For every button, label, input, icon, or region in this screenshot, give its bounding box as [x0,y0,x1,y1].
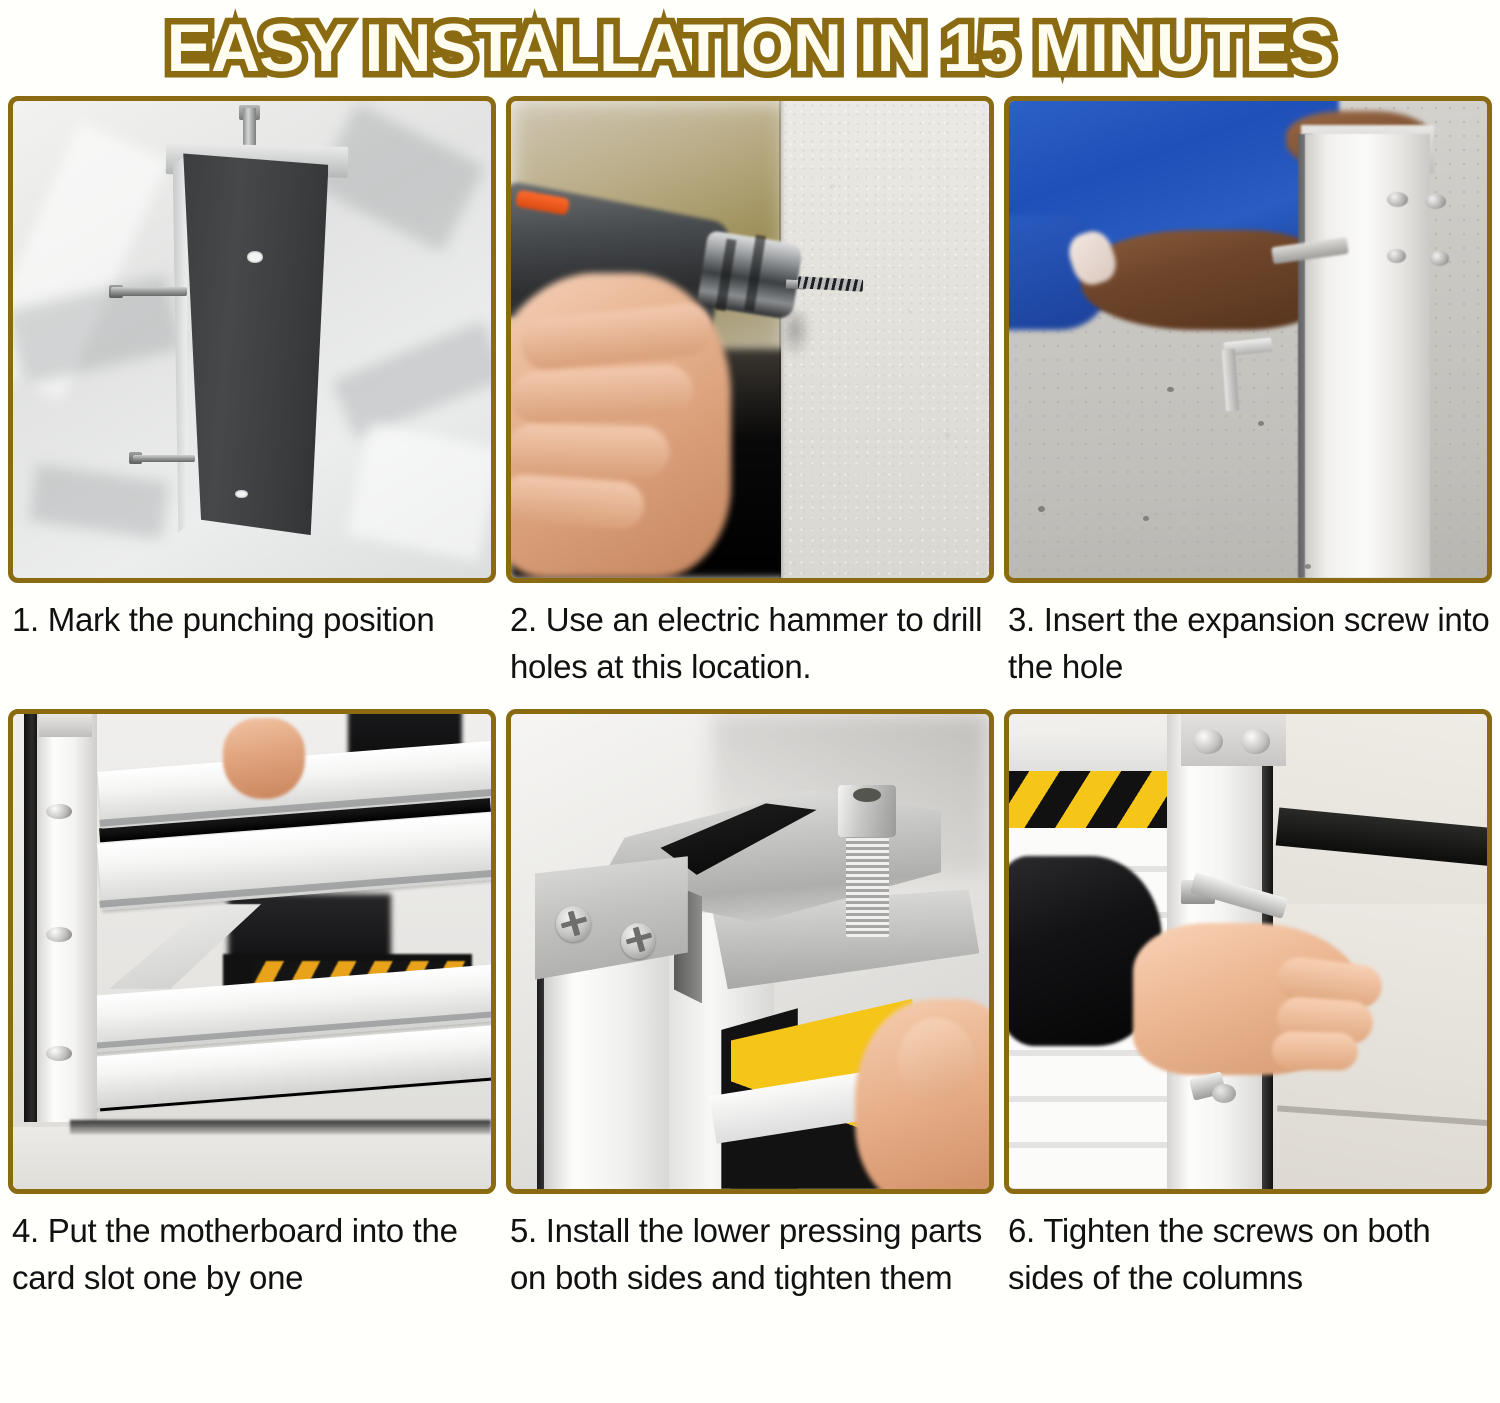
template-hole-lower [235,490,247,499]
template-pin-lower [133,455,195,462]
steps-grid-row-1: 1. Mark the punching position 2. Use an … [0,96,1500,691]
column-screw [1425,194,1446,209]
row-spacer [0,691,1500,709]
column-screw [1387,192,1408,207]
header-banner: EASY INSTALLATION IN 15 MINUTES [0,0,1500,96]
step-card-2: 2. Use an electric hammer to drill holes… [506,96,994,691]
floor-shadow [70,1120,491,1134]
floor-speck [1143,516,1149,521]
step-3-caption: 3. Insert the expansion screw into the h… [1004,583,1492,691]
page-title: EASY INSTALLATION IN 15 MINUTES [167,14,1334,82]
template-hole-upper [247,251,263,262]
sheet-fold [347,422,496,562]
step-card-3: 3. Insert the expansion screw into the h… [1004,96,1492,691]
floor [13,1127,491,1189]
step-card-1: 1. Mark the punching position [8,96,496,691]
step-5-caption: 5. Install the lower pressing parts on b… [506,1194,994,1302]
drill-dust [783,311,812,359]
step-card-6: 6. Tighten the screws on both sides of t… [1004,709,1492,1302]
step-1-photo-mark-punching-position [8,96,496,583]
column-top-screw [1193,729,1223,754]
step-card-5: 5. Install the lower pressing parts on b… [506,709,994,1302]
step-4-photo-insert-boards [8,709,496,1194]
step-6-caption: 6. Tighten the screws on both sides of t… [1004,1194,1492,1302]
step-card-4: 4. Put the motherboard into the card slo… [8,709,496,1302]
finger [1272,1031,1359,1070]
step-6-photo-tighten-screws [1004,709,1492,1194]
finger [510,363,694,425]
aluminium-column [1305,134,1429,578]
sheet-shadow [29,464,169,539]
step-2-photo-drill-holes [506,96,994,583]
finger [506,424,669,479]
step-1-caption: 1. Mark the punching position [8,583,496,644]
template-pin-upper [111,287,187,296]
barrier-top-edge [1009,733,1172,776]
wall-texture [781,101,989,578]
hand [223,718,304,799]
floor-speck [1258,421,1264,426]
template-plate [180,153,328,535]
sheet-shadow [332,321,496,439]
step-2-caption: 2. Use an electric hammer to drill holes… [506,583,994,691]
column-screw [1387,249,1406,263]
pressing-bolt-thread [846,832,889,937]
steps-grid-row-2: 4. Put the motherboard into the card slo… [0,709,1500,1302]
column-top-cap [39,714,92,738]
column-screw [1430,251,1449,265]
floor-speck [1305,564,1311,569]
step-4-caption: 4. Put the motherboard into the card slo… [8,1194,496,1302]
column-screw [46,1046,72,1061]
thumb [898,1018,974,1104]
aluminium-column [544,951,678,1189]
floor-speck [1167,387,1174,392]
finger [506,473,646,531]
column-top-screw [1241,729,1271,754]
column-screw [46,804,72,819]
step-3-photo-insert-expansion-screw [1004,96,1492,583]
step-5-photo-lower-pressing-parts [506,709,994,1194]
aluminium-column [37,714,97,1123]
